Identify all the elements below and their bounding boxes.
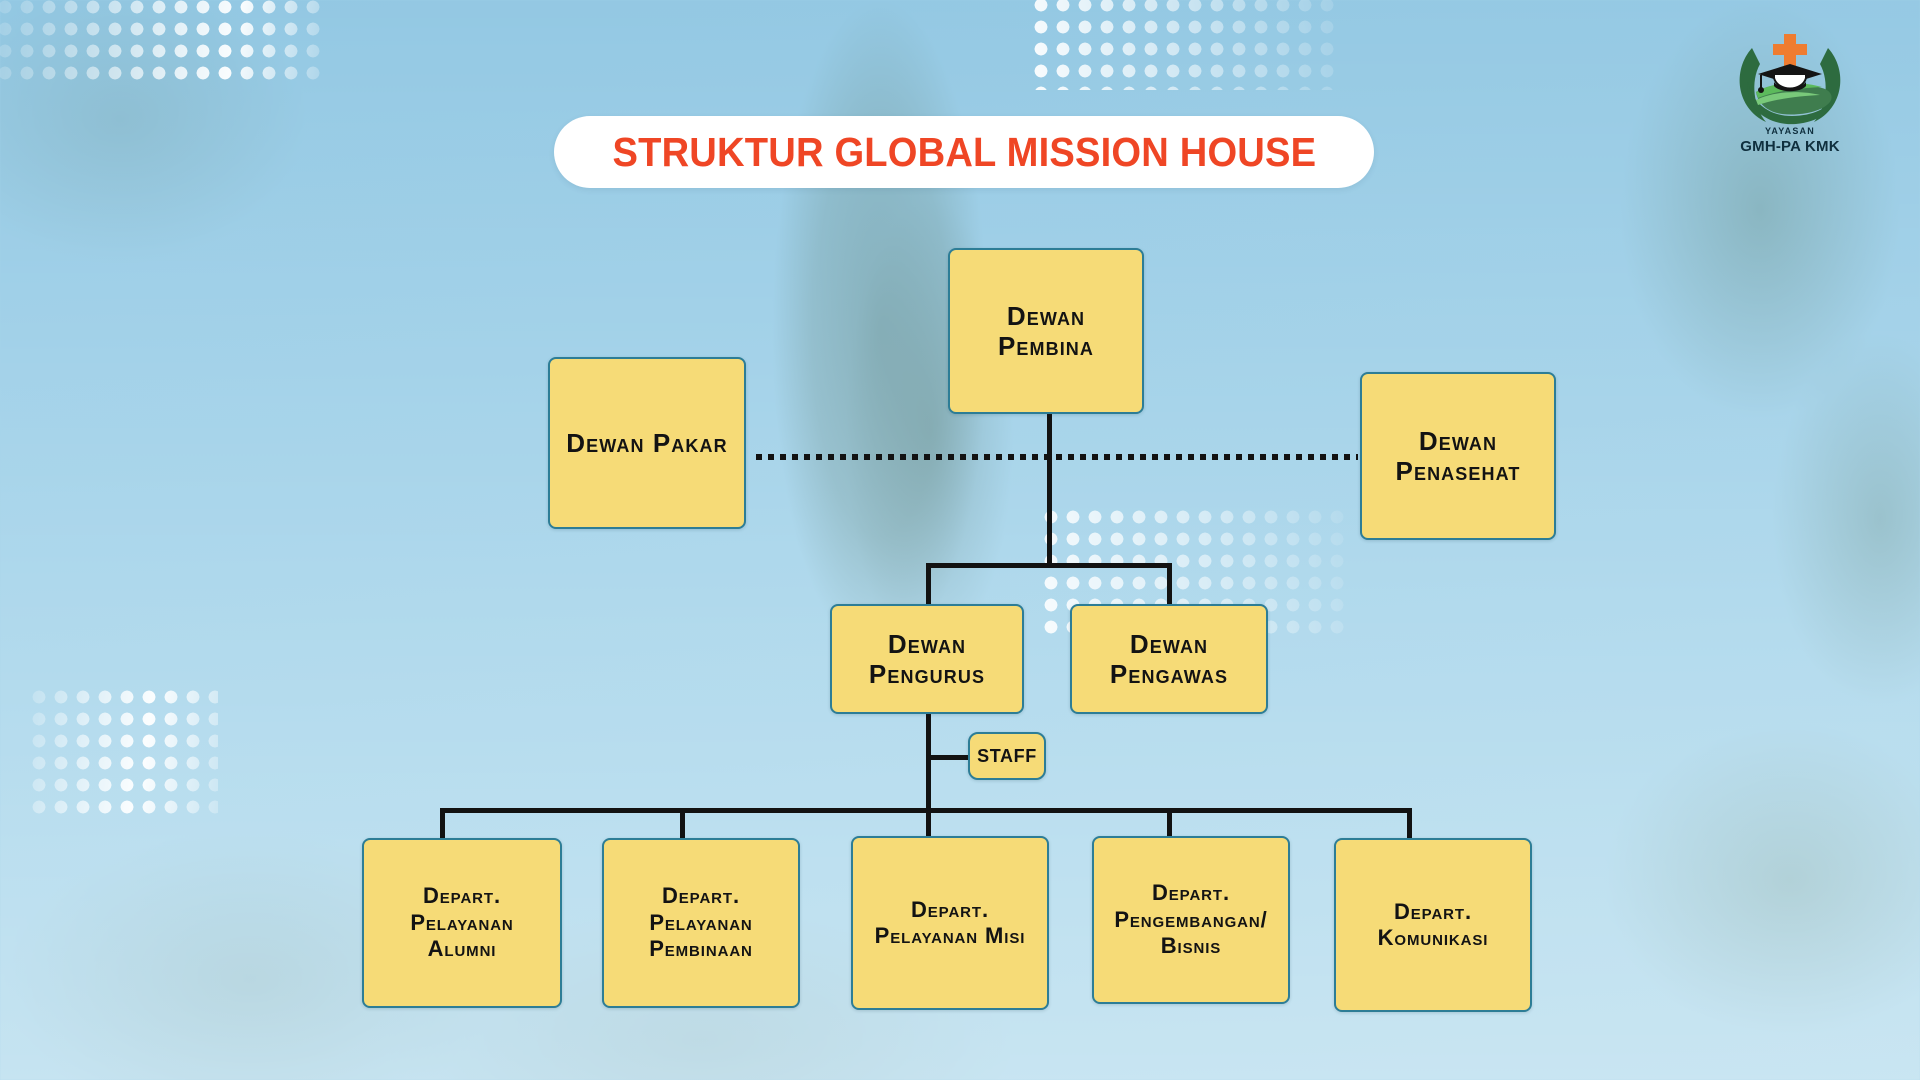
node-label: Depart. Pengembangan/ Bisnis	[1106, 880, 1275, 959]
node-dewan-pakar[interactable]: Dewan Pakar	[548, 357, 746, 529]
node-depart-komunikasi[interactable]: Depart. Komunikasi	[1334, 838, 1532, 1012]
node-label: Depart. Komunikasi	[1370, 899, 1497, 952]
node-label: Dewan Penasehat	[1388, 426, 1529, 486]
node-label: Dewan Pembina	[950, 301, 1142, 361]
page-title: STRUKTUR GLOBAL MISSION HOUSE	[612, 129, 1316, 176]
node-depart-pelayanan-alumni[interactable]: Depart. Pelayanan Alumni	[362, 838, 562, 1008]
node-staff[interactable]: STAFF	[968, 732, 1046, 780]
node-dewan-pembina[interactable]: Dewan Pembina	[948, 248, 1144, 414]
logo-line-yayasan: YAYASAN	[1726, 126, 1854, 136]
node-depart-pelayanan-misi[interactable]: Depart. Pelayanan Misi	[851, 836, 1049, 1010]
node-dewan-penasehat[interactable]: Dewan Penasehat	[1360, 372, 1556, 540]
node-label: Depart. Pelayanan Misi	[867, 897, 1034, 950]
logo-line-name: GMH-PA KMK	[1726, 138, 1854, 155]
node-dewan-pengurus[interactable]: Dewan Pengurus	[830, 604, 1024, 714]
title-banner: STRUKTUR GLOBAL MISSION HOUSE	[554, 116, 1374, 188]
node-dewan-pengawas[interactable]: Dewan Pengawas	[1070, 604, 1268, 714]
node-label: Dewan Pakar	[558, 428, 735, 458]
yayasan-logo: YAYASAN GMH-PA KMK	[1726, 30, 1854, 160]
node-label: Depart. Pelayanan Alumni	[402, 883, 521, 962]
logo-mark-icon	[1726, 30, 1854, 130]
node-depart-pengembangan-bisnis[interactable]: Depart. Pengembangan/ Bisnis	[1092, 836, 1290, 1004]
node-depart-pelayanan-pembinaan[interactable]: Depart. Pelayanan Pembinaan	[602, 838, 800, 1008]
node-label: Dewan Pengurus	[832, 629, 1022, 689]
node-label: Dewan Pengawas	[1072, 629, 1266, 689]
node-label: STAFF	[969, 746, 1045, 767]
node-label: Depart. Pelayanan Pembinaan	[641, 883, 761, 962]
org-chart-canvas: STRUKTUR GLOBAL MISSION HOUSE YAYASAN GM…	[0, 0, 1920, 1080]
